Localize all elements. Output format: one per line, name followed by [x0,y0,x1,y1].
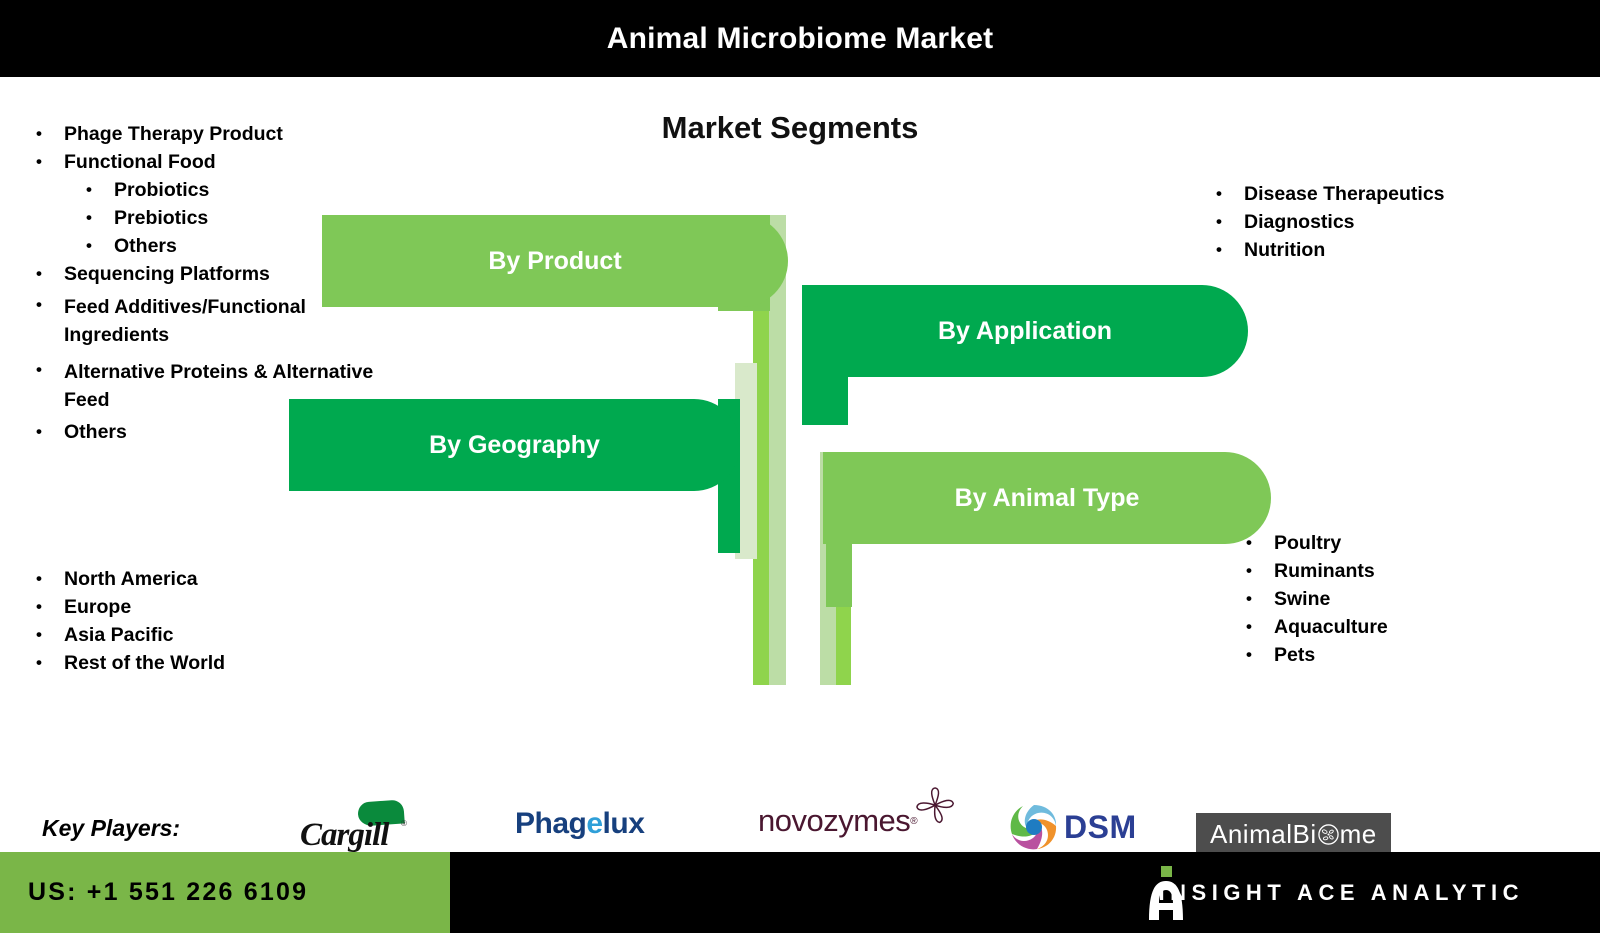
segment-pill-by-animal-type[interactable]: By Animal Type [823,452,1271,544]
logo-novozymes: novozymes ® [758,803,918,839]
list-item: Functional Food [30,153,410,173]
footer-brand-block: INSIGHT ACE ANALYTIC [450,852,1600,933]
segment-label-by-application: By Application [938,317,1112,346]
main-canvas: Market Segments By Product By Applicatio… [0,77,1600,852]
page-footer: US: +1 551 226 6109 INSIGHT ACE ANALYTIC [0,852,1600,933]
list-item: Asia Pacific [30,626,370,646]
list-item: Pets [1240,646,1580,666]
logo-phagelux-accent: e [586,807,602,840]
footer-contact-block: US: +1 551 226 6109 [0,852,450,933]
footer-brand-name: INSIGHT ACE ANALYTIC [1159,880,1524,906]
list-item: Alternative Proteins & Alternative Feed [30,358,410,415]
segment-label-by-product: By Product [488,247,621,276]
list-item: Europe [30,598,370,618]
list-by-product: Phage Therapy Product Functional Food Pr… [30,125,410,451]
logo-animalbiome-pre: AnimalBi [1210,819,1317,850]
list-by-geography: North America Europe Asia Pacific Rest o… [30,570,370,682]
list-item: Probiotics [30,181,410,201]
list-item: Phage Therapy Product [30,125,410,145]
segment-pill-by-application[interactable]: By Application [802,285,1248,377]
segment-label-by-animal-type: By Animal Type [955,484,1140,513]
list-item: Swine [1240,590,1580,610]
list-item: Diagnostics [1210,213,1570,233]
list-item: Poultry [1240,534,1580,554]
key-players-label: Key Players: [42,815,180,842]
page-title: Animal Microbiome Market [607,22,994,56]
novozymes-clover-icon [913,787,959,827]
list-item: Rest of the World [30,654,370,674]
footer-phone[interactable]: US: +1 551 226 6109 [28,878,308,907]
list-item: Ruminants [1240,562,1580,582]
list-by-application: Disease Therapeutics Diagnostics Nutriti… [1210,185,1570,269]
logo-phagelux-text: Phag [515,807,586,840]
list-item: Sequencing Platforms [30,265,410,285]
section-title: Market Segments [640,110,940,146]
insight-ace-analytic-logo-icon [1143,866,1191,920]
list-item: Nutrition [1210,241,1570,261]
microbe-circle-icon [1318,824,1339,845]
list-item: Others [30,237,410,257]
page-header: Animal Microbiome Market [0,0,1600,77]
trademark-icon: ® [401,819,407,828]
list-by-animal-type: Poultry Ruminants Swine Aquaculture Pets [1240,534,1580,674]
logo-cargill: Cargill ® [300,795,420,859]
list-item: Disease Therapeutics [1210,185,1570,205]
logo-phagelux: Phagelux [515,807,644,841]
list-item: Prebiotics [30,209,410,229]
segment-label-by-geography: By Geography [429,431,600,460]
logo-dsm: DSM [1008,801,1137,853]
dsm-swirl-icon [1008,801,1060,853]
logo-animalbiome-post: me [1340,819,1377,850]
list-item: Aquaculture [1240,618,1580,638]
list-item: North America [30,570,370,590]
list-item: Feed Additives/Functional Ingredients [30,293,410,350]
logo-novozymes-text: novozymes [758,803,910,839]
logo-phagelux-tail: lux [603,807,645,840]
list-item: Others [30,423,410,443]
logo-cargill-text: Cargill [300,817,388,854]
logo-dsm-text: DSM [1064,809,1137,846]
